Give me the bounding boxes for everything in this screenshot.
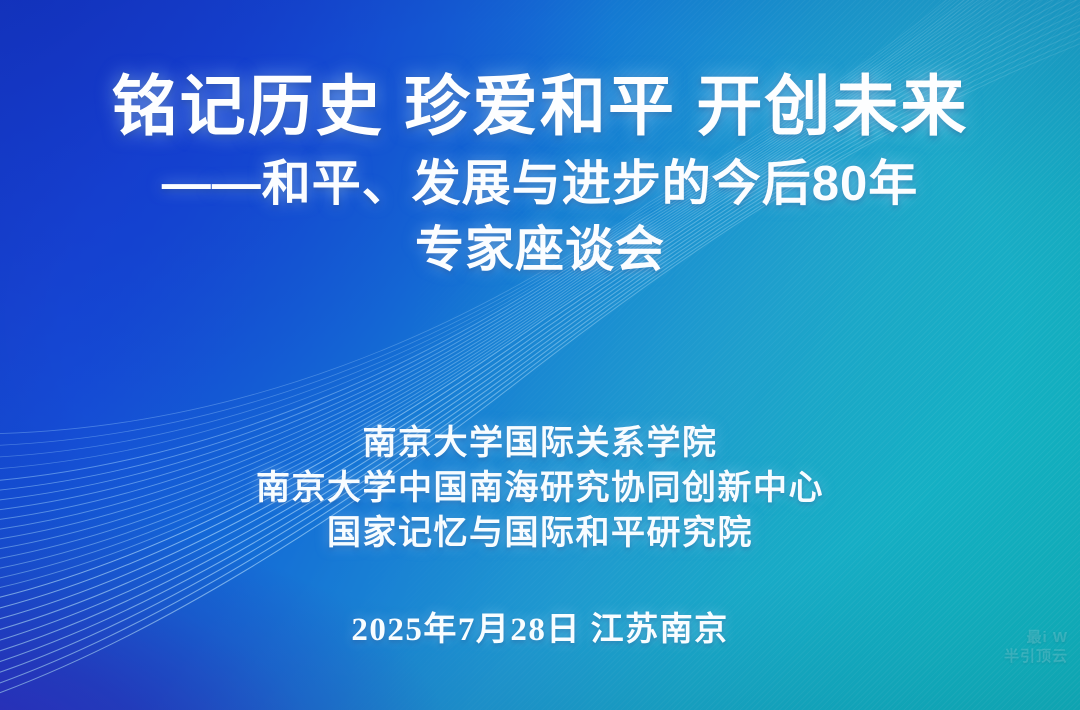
watermark: 最i W 半引顶云: [1004, 629, 1068, 666]
organizer-line-2: 南京大学中国南海研究协同创新中心: [0, 467, 1080, 512]
subtitle-line-2: 专家座谈会: [0, 218, 1080, 284]
subtitle-line-1: ——和平、发展与进步的今后80年: [0, 152, 1080, 218]
subtitle-block: ——和平、发展与进步的今后80年 专家座谈会: [0, 152, 1080, 283]
watermark-line-2: 半引顶云: [1004, 648, 1068, 666]
organizer-line-1: 南京大学国际关系学院: [0, 422, 1080, 467]
organizer-line-3: 国家记忆与国际和平研究院: [0, 512, 1080, 557]
conference-title-slide: 铭记历史 珍爱和平 开创未来 ——和平、发展与进步的今后80年 专家座谈会 南京…: [0, 0, 1080, 710]
page-title: 铭记历史 珍爱和平 开创未来: [0, 72, 1080, 142]
watermark-line-1: 最i W: [1004, 629, 1068, 647]
organizer-block: 南京大学国际关系学院 南京大学中国南海研究协同创新中心 国家记忆与国际和平研究院: [0, 422, 1080, 557]
date-location-text: 2025年7月28日 江苏南京: [0, 602, 1080, 650]
